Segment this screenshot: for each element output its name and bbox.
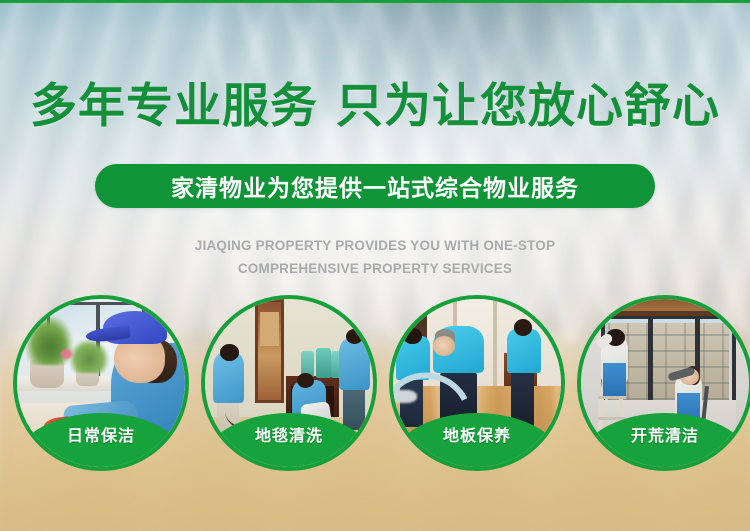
service-label-text: 开荒清洁 (631, 422, 699, 446)
tagline-text: 家清物业为您提供一站式综合物业服务 (171, 169, 579, 203)
service-card-daily-cleaning[interactable]: 日常保洁 (13, 295, 189, 471)
english-subtitle-line-1: JIAQING PROPERTY PROVIDES YOU WITH ONE-S… (0, 234, 750, 257)
service-card-carpet-washing[interactable]: 地毯清洗 (201, 295, 377, 471)
service-promo-banner: 多年专业服务只为让您放心舒心 家清物业为您提供一站式综合物业服务 JIAQING… (0, 0, 750, 531)
english-subtitle: JIAQING PROPERTY PROVIDES YOU WITH ONE-S… (0, 234, 750, 280)
headline-part2: 只为让您放心舒心 (336, 79, 720, 132)
top-accent-rule (0, 0, 750, 3)
service-card-post-construction-cleaning[interactable]: 开荒清洁 (577, 295, 750, 471)
english-subtitle-line-2: COMPREHENSIVE PROPERTY SERVICES (0, 257, 750, 280)
service-label-text: 地板保养 (443, 422, 511, 446)
headline-part1: 多年专业服务 (30, 79, 318, 132)
service-card-floor-maintenance[interactable]: 地板保养 (389, 295, 565, 471)
tagline-pill: 家清物业为您提供一站式综合物业服务 (95, 164, 655, 208)
headline: 多年专业服务只为让您放心舒心 (0, 82, 750, 129)
service-label-text: 日常保洁 (67, 422, 135, 446)
service-label-text: 地毯清洗 (255, 422, 323, 446)
